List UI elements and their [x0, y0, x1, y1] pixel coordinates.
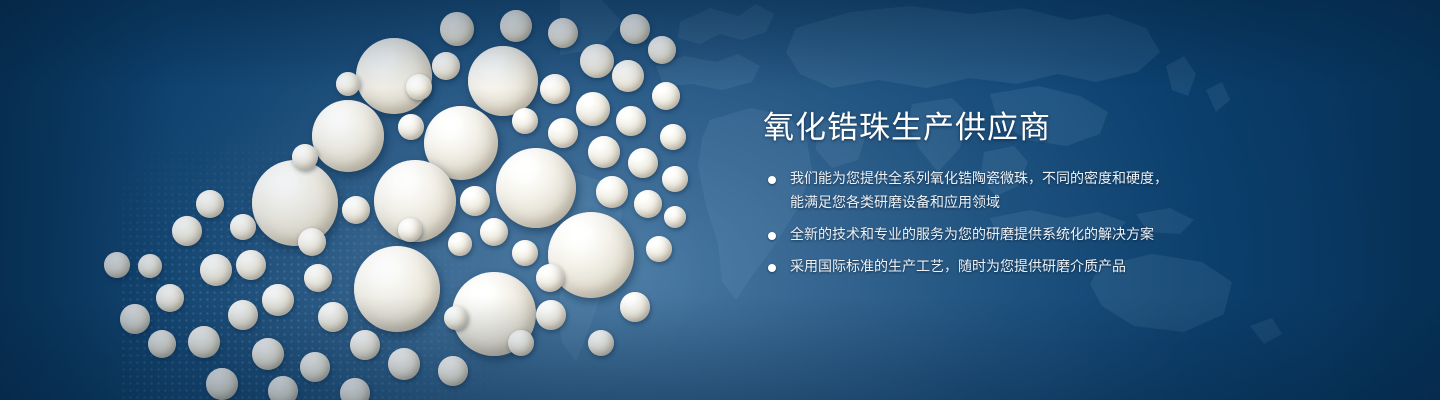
list-item-line: 我们能为您提供全系列氧化锆陶瓷微珠，不同的密度和硬度， [790, 168, 1220, 191]
list-item: 我们能为您提供全系列氧化锆陶瓷微珠，不同的密度和硬度， 能满足您各类研磨设备和应… [760, 168, 1220, 215]
page-title: 氧化锆珠生产供应商 [763, 108, 1051, 148]
list-item-line: 全新的技术和专业的服务为您的研磨提供系统化的解决方案 [790, 224, 1220, 247]
bullet-dot-icon [768, 176, 776, 184]
feature-list: 我们能为您提供全系列氧化锆陶瓷微珠，不同的密度和硬度， 能满足您各类研磨设备和应… [760, 168, 1220, 279]
bullet-dot-icon [768, 264, 776, 272]
banner-content: 氧化锆珠生产供应商 我们能为您提供全系列氧化锆陶瓷微珠，不同的密度和硬度， 能满… [760, 0, 1260, 400]
list-item-line: 能满足您各类研磨设备和应用领域 [790, 192, 1220, 215]
list-item: 全新的技术和专业的服务为您的研磨提供系统化的解决方案 [760, 224, 1220, 247]
hero-banner: 氧化锆珠生产供应商 我们能为您提供全系列氧化锆陶瓷微珠，不同的密度和硬度， 能满… [0, 0, 1440, 400]
bullet-dot-icon [768, 232, 776, 240]
list-item-line: 采用国际标准的生产工艺，随时为您提供研磨介质产品 [790, 256, 1220, 279]
list-item: 采用国际标准的生产工艺，随时为您提供研磨介质产品 [760, 256, 1220, 279]
